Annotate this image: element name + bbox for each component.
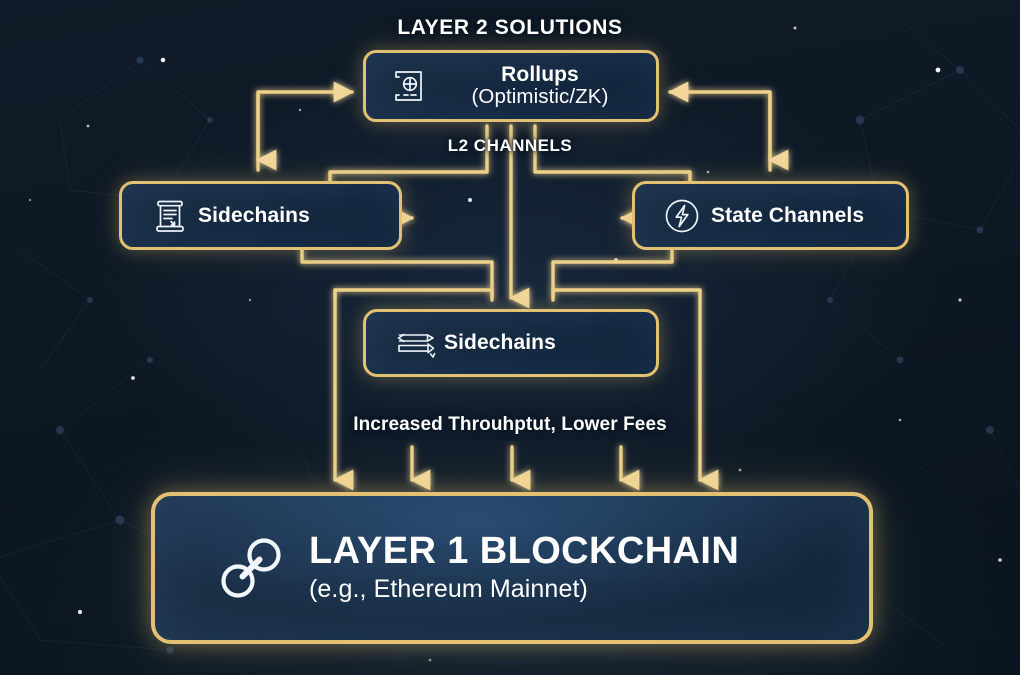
diagram-canvas: LAYER 2 SOLUTIONS L2 CHANNELS Increased … <box>0 0 1020 675</box>
node-layer1-title: LAYER 1 BLOCKCHAIN <box>309 531 739 573</box>
node-rollups[interactable]: Rollups (Optimistic/ZK) <box>363 50 659 122</box>
swap-arrows-icon <box>386 323 444 363</box>
node-layer1-subtitle: (e.g., Ethereum Mainnet) <box>309 574 739 605</box>
node-rollups-subtitle: (Optimistic/ZK) <box>438 86 642 109</box>
node-layer1-text: LAYER 1 BLOCKCHAIN (e.g., Ethereum Mainn… <box>305 531 739 605</box>
chain-link-icon <box>197 529 305 607</box>
node-rollups-text: Rollups (Optimistic/ZK) <box>438 63 656 109</box>
node-rollups-title: Rollups <box>438 63 642 87</box>
node-sidechains-left[interactable]: Sidechains <box>119 181 402 250</box>
node-sidechains-mid-label: Sidechains <box>444 331 556 355</box>
node-state-channels-label: State Channels <box>711 204 864 228</box>
connector-right-to-rollups <box>670 92 770 170</box>
node-sidechains-left-label: Sidechains <box>198 204 310 228</box>
connector-state-channels-down <box>553 250 672 300</box>
lightning-bolt-circle-icon <box>653 194 711 238</box>
scroll-contract-icon <box>384 65 438 107</box>
connector-left-to-rollups <box>258 92 352 170</box>
connector-sidechains-left-down <box>302 250 492 300</box>
page-title: LAYER 2 SOLUTIONS <box>0 16 1020 40</box>
scroll-document-icon <box>142 196 198 236</box>
l2-channels-label: L2 CHANNELS <box>0 136 1020 156</box>
node-layer1-blockchain[interactable]: LAYER 1 BLOCKCHAIN (e.g., Ethereum Mainn… <box>151 492 873 644</box>
node-state-channels[interactable]: State Channels <box>632 181 909 250</box>
benefit-label: Increased Throuhptut, Lower Fees <box>0 414 1020 436</box>
node-sidechains-mid[interactable]: Sidechains <box>363 309 659 377</box>
